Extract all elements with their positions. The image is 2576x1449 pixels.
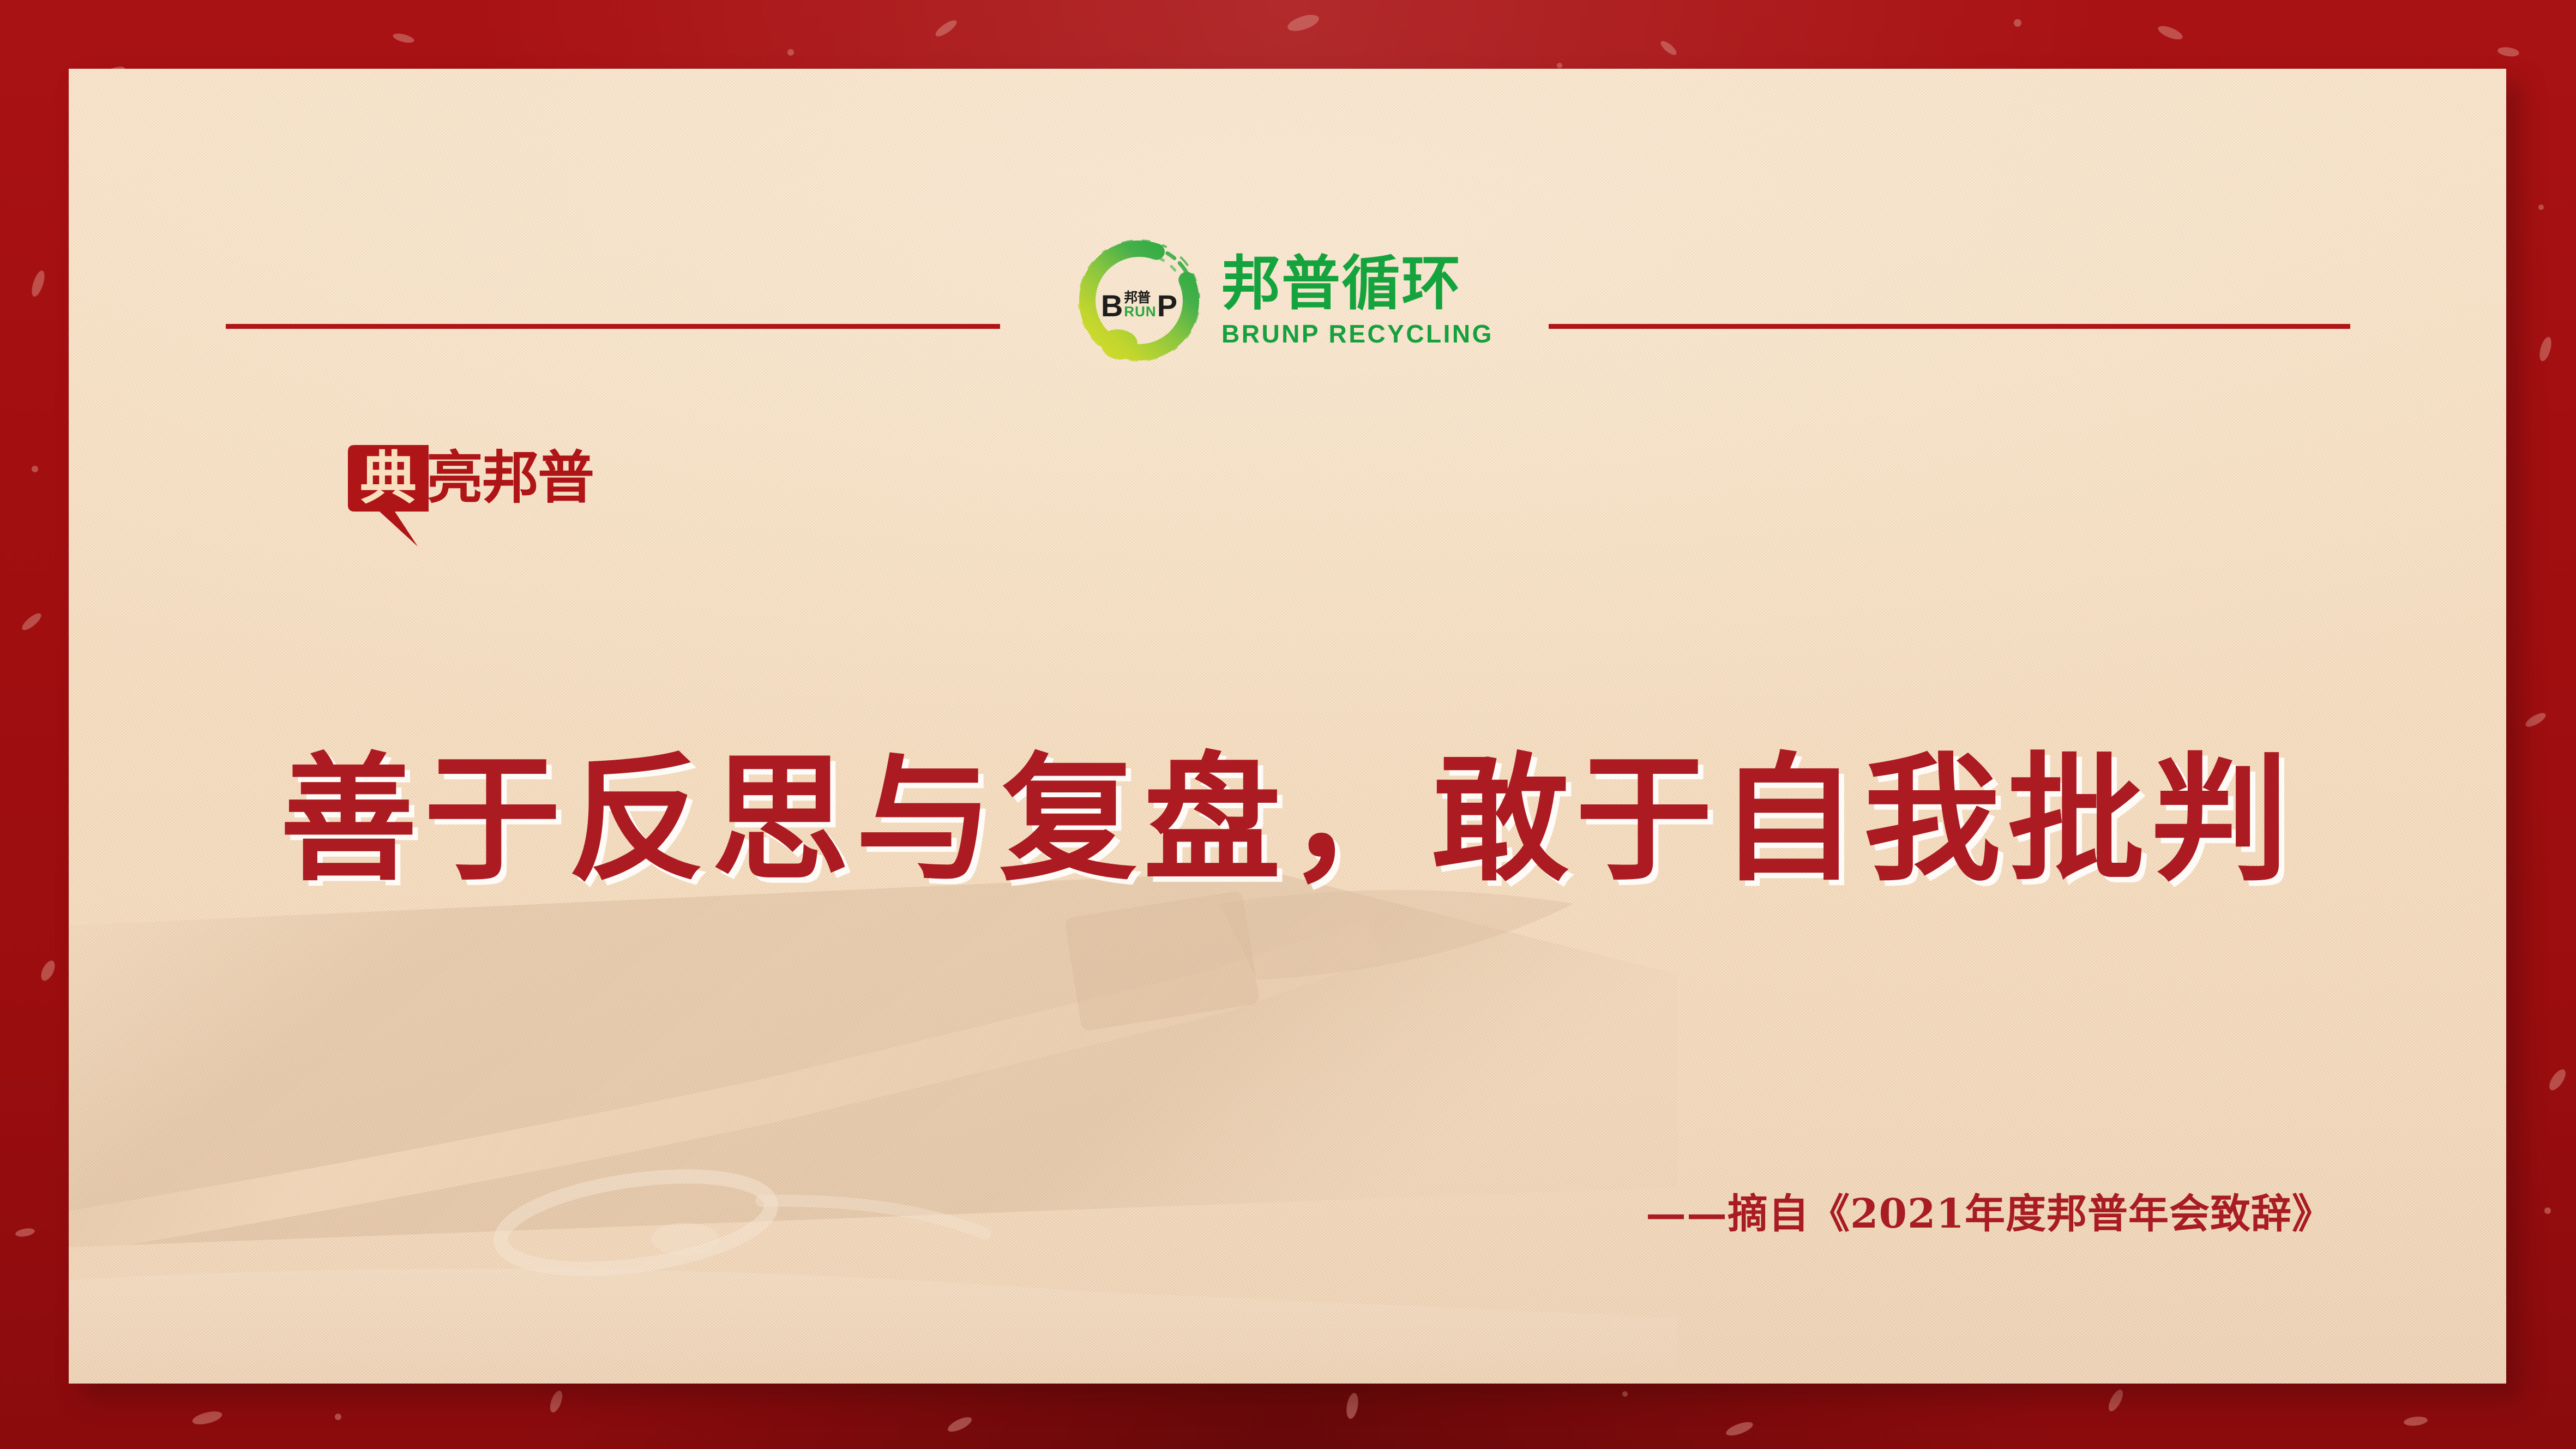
brush-ring-icon: B 邦普 RUN P: [1071, 232, 1207, 369]
attribution-source: ——摘自《2021年度邦普年会致辞》: [1646, 1181, 2333, 1240]
logo-letters-run: RUN: [1124, 304, 1156, 318]
badge-bubble-char: 典: [348, 444, 429, 513]
slide-canvas: B 邦普 RUN P 邦普循环 BRUNP RECYCLING: [0, 0, 2576, 1449]
page-title: 善于反思与复盘，敢于自我批判: [69, 742, 2506, 898]
speech-bubble-icon: 典: [348, 445, 429, 548]
series-badge: 典 亮邦普: [348, 445, 593, 548]
slide-header: B 邦普 RUN P 邦普循环 BRUNP RECYCLING: [69, 232, 2506, 330]
logo-letter-b: B: [1101, 293, 1123, 318]
logo-cn-small: 邦普: [1124, 291, 1150, 304]
logo-letter-p: P: [1157, 293, 1177, 318]
badge-label: 亮邦普: [426, 445, 593, 511]
brunp-logo: B 邦普 RUN P 邦普循环 BRUNP RECYCLING: [1071, 232, 1494, 369]
content-panel: B 邦普 RUN P 邦普循环 BRUNP RECYCLING: [69, 69, 2506, 1384]
brand-name-en: BRUNP RECYCLING: [1221, 321, 1494, 346]
divider-rule-left: [226, 324, 1000, 329]
divider-rule-right: [1549, 324, 2350, 329]
logo-wordmark: 邦普循环 BRUNP RECYCLING: [1221, 255, 1494, 346]
brand-name-cn: 邦普循环: [1221, 255, 1494, 314]
